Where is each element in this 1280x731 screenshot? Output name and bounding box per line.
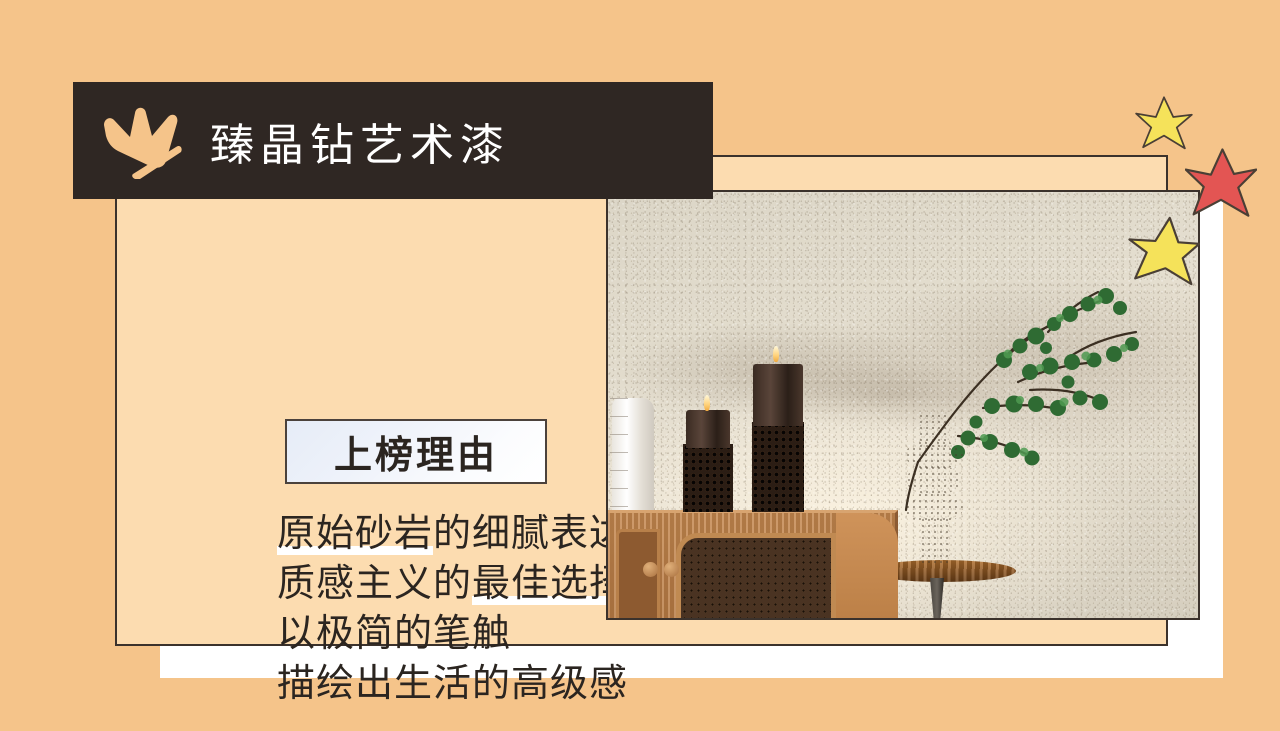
reason-badge-label: 上榜理由 bbox=[334, 424, 498, 479]
candle-1-base bbox=[683, 444, 733, 512]
cabinet-right-edge bbox=[836, 513, 898, 620]
cabinet-knob-left bbox=[643, 562, 658, 577]
reason-line-1-highlight: 原始砂岩 bbox=[277, 513, 433, 555]
candle-1-flame bbox=[704, 395, 710, 411]
star-yellow-big-icon bbox=[1128, 215, 1200, 287]
candle-2-flame bbox=[773, 346, 779, 362]
reason-line-4: 描绘出生活的高级感 bbox=[277, 659, 707, 709]
reason-line-1-rest: 的细腻表达 bbox=[433, 513, 628, 555]
candle-2-body bbox=[753, 364, 803, 426]
plant-branch-icon bbox=[768, 212, 1188, 512]
cabinet-knob-right bbox=[664, 562, 679, 577]
title-bar: 臻晶钻艺术漆 bbox=[73, 82, 713, 199]
candle-2-base bbox=[752, 422, 804, 512]
star-yellow-small-icon bbox=[1135, 95, 1193, 153]
vase-bulb-2 bbox=[906, 465, 962, 495]
wooden-cabinet bbox=[608, 510, 898, 620]
reason-line-2-rest: 质感主义的 bbox=[277, 563, 472, 605]
reason-badge: 上榜理由 bbox=[285, 419, 547, 484]
reason-line-2-highlight: 最佳选择 bbox=[472, 563, 628, 605]
vase-foot bbox=[920, 517, 950, 565]
room-photo bbox=[606, 190, 1200, 620]
candle-1-body bbox=[686, 410, 730, 448]
rattan-panel bbox=[676, 533, 836, 620]
page-title: 臻晶钻艺术漆 bbox=[210, 109, 510, 173]
crown-icon bbox=[100, 103, 186, 179]
curtain-folds bbox=[610, 398, 628, 514]
star-red-icon bbox=[1185, 148, 1257, 220]
